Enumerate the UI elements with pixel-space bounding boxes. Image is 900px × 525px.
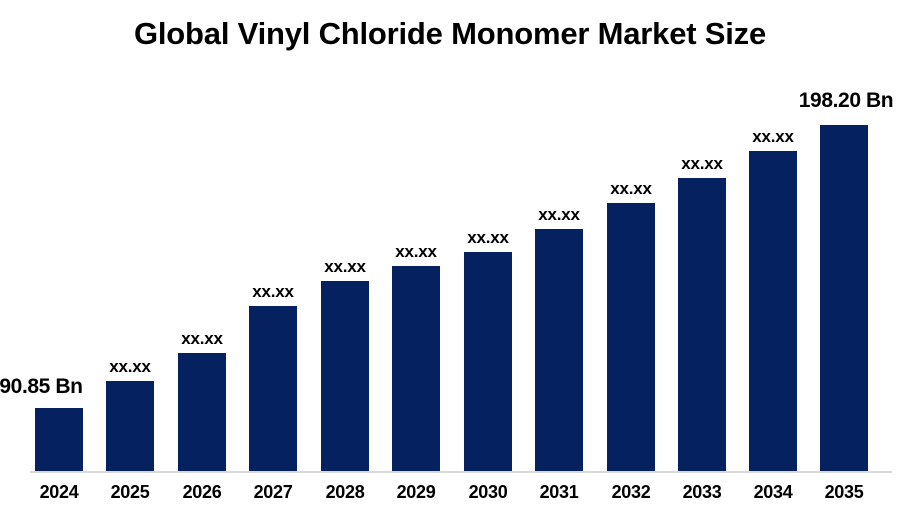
bar-value-label-2034: xx.xx <box>749 127 797 147</box>
x-axis-line <box>30 471 892 473</box>
bar-2032 <box>607 203 655 471</box>
plot-area: 90.85 Bnxx.xxxx.xxxx.xxxx.xxxx.xxxx.xxxx… <box>0 0 900 525</box>
category-label-2035: 2035 <box>820 482 868 503</box>
bar-2026 <box>178 353 226 471</box>
bar-2029 <box>392 266 440 471</box>
bar-2027 <box>249 306 297 471</box>
category-label-2034: 2034 <box>749 482 797 503</box>
category-label-2028: 2028 <box>321 482 369 503</box>
bar-value-label-2033: xx.xx <box>678 154 726 174</box>
bar-value-label-2025: xx.xx <box>106 357 154 377</box>
bar-value-label-2028: xx.xx <box>321 257 369 277</box>
bar-value-label-2030: xx.xx <box>464 228 512 248</box>
bar-2034 <box>749 151 797 471</box>
bar-2035 <box>820 125 868 471</box>
bar-2031 <box>535 229 583 471</box>
bar-2030 <box>464 252 512 471</box>
bar-value-label-2035: 198.20 Bn <box>792 89 900 113</box>
bar-value-label-2029: xx.xx <box>392 242 440 262</box>
category-label-2030: 2030 <box>464 482 512 503</box>
bar-2033 <box>678 178 726 471</box>
bar-value-label-2032: xx.xx <box>607 179 655 199</box>
category-label-2031: 2031 <box>535 482 583 503</box>
bar-2028 <box>321 281 369 471</box>
chart-container: Global Vinyl Chloride Monomer Market Siz… <box>0 0 900 525</box>
bar-value-label-2031: xx.xx <box>535 205 583 225</box>
category-label-2025: 2025 <box>106 482 154 503</box>
bar-value-label-2026: xx.xx <box>178 329 226 349</box>
category-label-2027: 2027 <box>249 482 297 503</box>
bar-2025 <box>106 381 154 471</box>
category-label-2026: 2026 <box>178 482 226 503</box>
bar-value-label-2024: 90.85 Bn <box>0 375 95 399</box>
category-label-2033: 2033 <box>678 482 726 503</box>
category-label-2029: 2029 <box>392 482 440 503</box>
bar-2024 <box>35 408 83 471</box>
category-label-2024: 2024 <box>35 482 83 503</box>
category-label-2032: 2032 <box>607 482 655 503</box>
bar-value-label-2027: xx.xx <box>249 282 297 302</box>
